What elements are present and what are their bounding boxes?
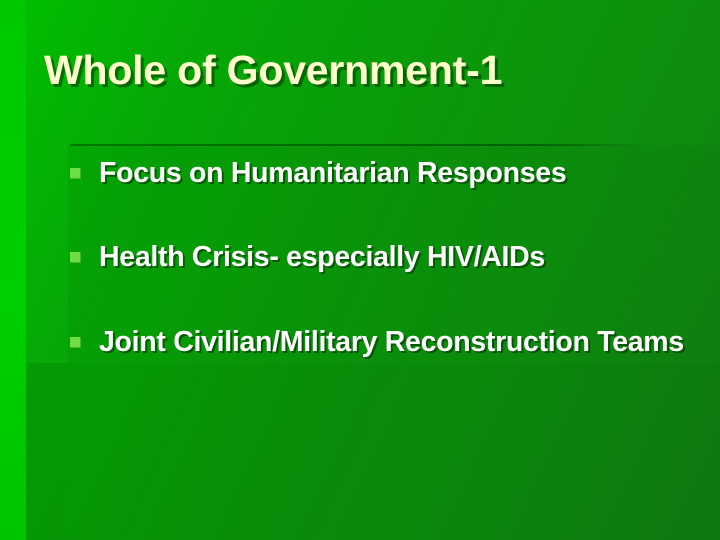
- square-bullet-icon: [70, 168, 81, 179]
- square-bullet-icon: [70, 337, 81, 348]
- list-item: Health Crisis- especially HIV/AIDs: [70, 239, 690, 275]
- bullet-item-label: Focus on Humanitarian Responses: [99, 155, 690, 191]
- slide-title: Whole of Government-1: [44, 48, 684, 92]
- presentation-slide: Whole of Government-1 Focus on Humanitar…: [0, 0, 720, 540]
- list-item: Joint Civilian/Military Reconstruction T…: [70, 324, 690, 360]
- bullet-item-label: Joint Civilian/Military Reconstruction T…: [99, 324, 690, 360]
- bullet-list: Focus on Humanitarian Responses Health C…: [70, 155, 690, 408]
- list-item: Focus on Humanitarian Responses: [70, 155, 690, 191]
- lower-left-panel-background: [26, 363, 68, 540]
- left-accent-band: [0, 0, 26, 540]
- square-bullet-icon: [70, 252, 81, 263]
- bullet-item-label: Health Crisis- especially HIV/AIDs: [99, 239, 690, 275]
- title-divider-rule: [70, 144, 640, 146]
